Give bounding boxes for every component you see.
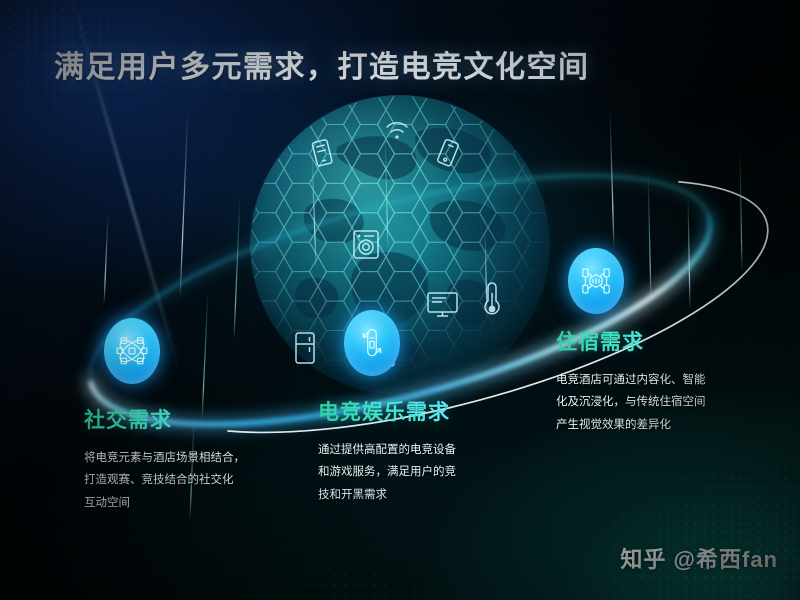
node-esports-entertainment[interactable] — [344, 310, 400, 376]
card-body: 通过提供高配置的电竞设备 和游戏服务，满足用户的竞 技和开黑需求 — [318, 439, 538, 506]
node-accommodation[interactable] — [568, 248, 624, 314]
slide-canvas: 满足用户多元需求，打造电竞文化空间 社交需求 将电竞元素与酒店场景相结合， 打造… — [0, 0, 800, 600]
gamepad-refresh-icon — [344, 310, 400, 376]
watermark: 知乎 @希西fan — [620, 542, 778, 574]
card-esports-entertainment: 电竞娱乐需求 通过提供高配置的电竞设备 和游戏服务，满足用户的竞 技和开黑需求 — [318, 396, 538, 506]
card-accommodation: 住宿需求 电竞酒店可通过内容化、智能 化及沉浸化，与传统住宿空间 产生视觉效果的… — [556, 326, 786, 436]
page-title: 满足用户多元需求，打造电竞文化空间 — [54, 42, 590, 86]
card-title: 社交需求 — [84, 404, 314, 434]
node-social[interactable] — [104, 318, 160, 384]
card-title: 电竞娱乐需求 — [318, 396, 538, 426]
card-social: 社交需求 将电竞元素与酒店场景相结合， 打造观赛、竞技结合的社交化 互动空间 — [84, 404, 314, 514]
smart-room-chip-icon — [568, 248, 624, 314]
card-body: 电竞酒店可通过内容化、智能 化及沉浸化，与传统住宿空间 产生视觉效果的差异化 — [556, 369, 786, 436]
card-body: 将电竞元素与酒店场景相结合， 打造观赛、竞技结合的社交化 互动空间 — [84, 447, 314, 514]
card-title: 住宿需求 — [556, 326, 786, 356]
network-nodes-icon — [104, 318, 160, 384]
